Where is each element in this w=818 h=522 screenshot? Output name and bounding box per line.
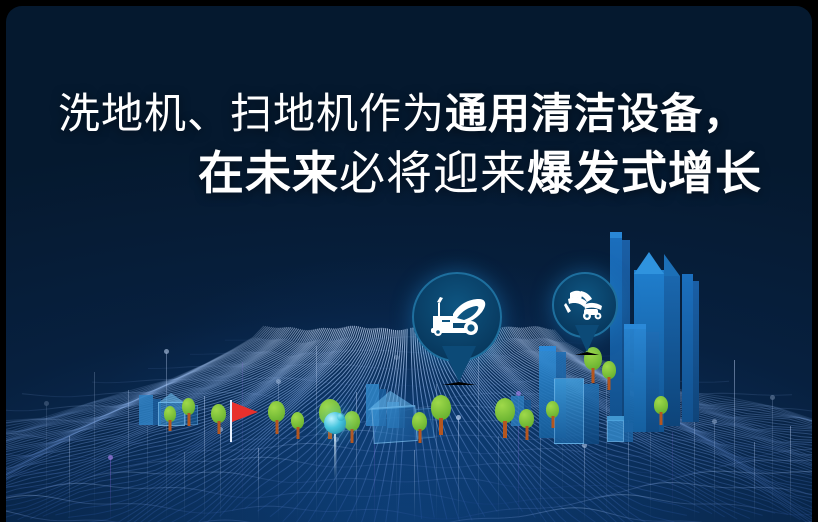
title-line2-bold-b: 爆发式增长 — [527, 147, 762, 199]
map-pin-road-sweeper[interactable] — [552, 272, 622, 364]
tree — [182, 398, 195, 426]
flag-cloth — [232, 402, 258, 422]
tree — [519, 409, 534, 440]
tree — [602, 361, 616, 390]
skyscraper-slim-right — [682, 274, 698, 422]
pin-tail — [575, 325, 599, 355]
map-pin-floor-scrubber[interactable] — [412, 272, 506, 382]
tree — [495, 398, 515, 438]
poster-panel: 洗地机、扫地机作为通用清洁设备， 在未来必将迎来爆发式增长 — [6, 6, 812, 522]
building-small-block — [607, 416, 633, 442]
page-title: 洗地机、扫地机作为通用清洁设备， 在未来必将迎来爆发式增长 — [6, 86, 812, 204]
title-line-2: 在未来必将迎来爆发式增长 — [6, 142, 812, 204]
title-line1-light: 洗地机、扫地机作为 — [58, 90, 445, 137]
road-sweeper-icon — [564, 289, 606, 321]
tree — [211, 404, 226, 434]
tree — [344, 411, 360, 443]
poster-root: 洗地机、扫地机作为通用清洁设备， 在未来必将迎来爆发式增长 — [0, 0, 818, 522]
cyan-sphere-marker-right — [337, 413, 345, 421]
city-scene — [6, 6, 812, 522]
tree — [291, 412, 304, 439]
sphere-stem — [334, 434, 336, 480]
tree — [412, 412, 427, 443]
title-line2-light: 必将迎来 — [339, 147, 527, 199]
tree — [546, 401, 559, 428]
red-flag — [230, 400, 260, 442]
floor-scrubber-icon — [427, 294, 487, 340]
title-line-1: 洗地机、扫地机作为通用清洁设备， — [6, 86, 812, 142]
tree — [164, 406, 176, 431]
title-line1-bold: 通用清洁设备， — [445, 90, 746, 137]
tree — [268, 401, 285, 434]
pin-tail — [442, 346, 476, 385]
building-cluster-wide — [554, 378, 598, 444]
title-line2-bold-a: 在未来 — [198, 147, 339, 199]
tree — [654, 396, 668, 425]
tree — [431, 395, 451, 435]
